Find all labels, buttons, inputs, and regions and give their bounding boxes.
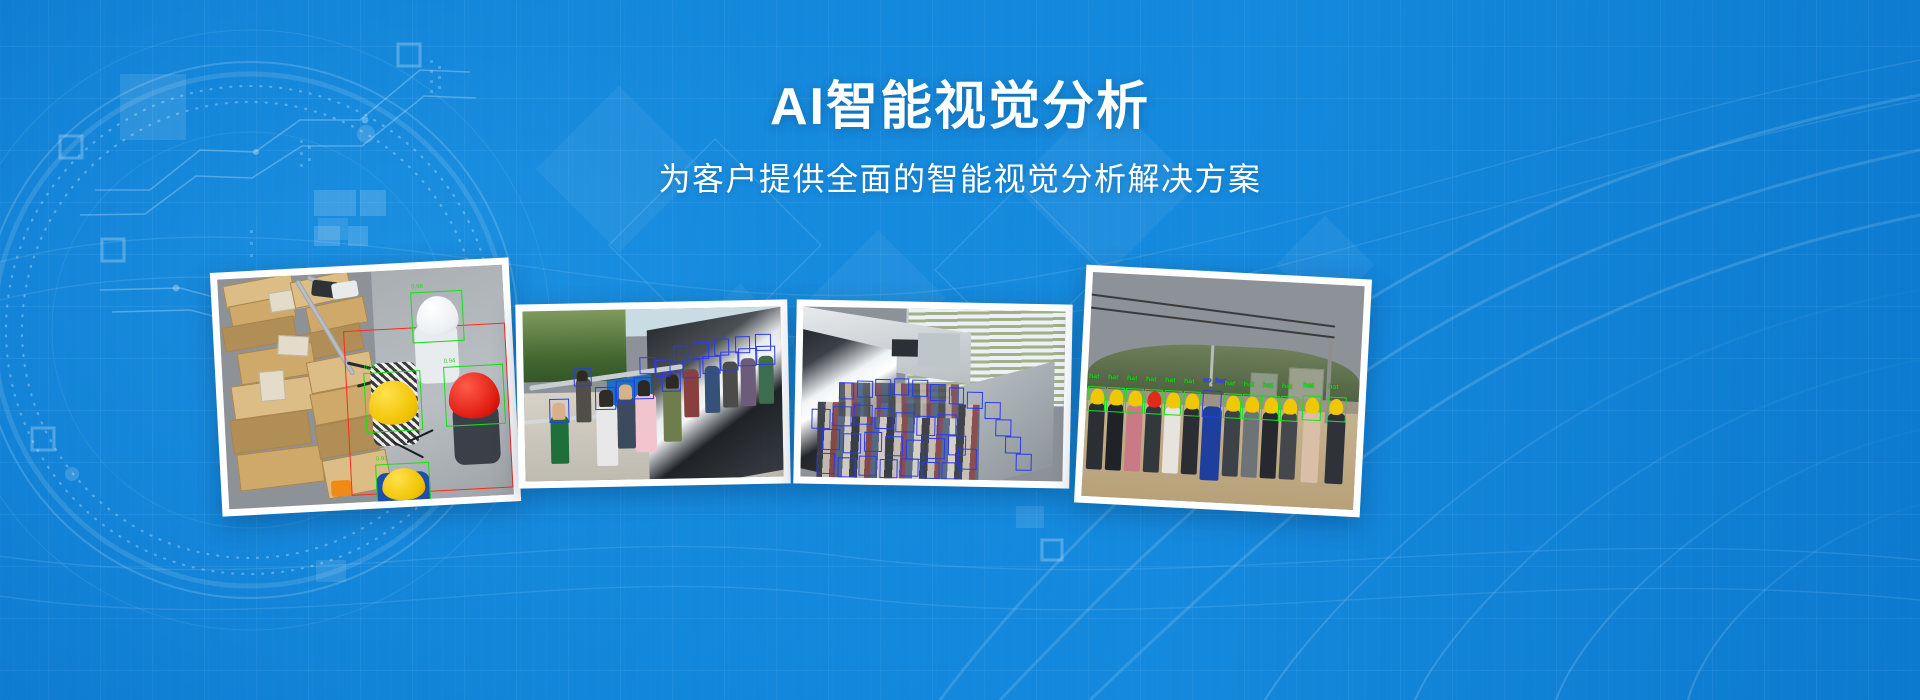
detection-label-hat: hat [1108, 374, 1119, 382]
detection-label-hat: hat [1146, 376, 1157, 384]
detection-box-person [839, 382, 855, 399]
detection-box-face [673, 346, 689, 363]
pedestrian [663, 387, 682, 442]
detection-box-person [949, 387, 965, 404]
detection-box-person [927, 438, 946, 459]
detection-box-person [985, 402, 1001, 419]
detection-box-person [900, 458, 919, 477]
detection-box-face [734, 336, 750, 353]
pedestrian [596, 405, 618, 467]
detection-label: 0.96 [364, 365, 376, 372]
detection-box-person [864, 432, 883, 453]
detection-box-person [854, 404, 873, 425]
detection-box-hat [1163, 390, 1182, 416]
far-structure [918, 333, 961, 368]
detection-box-helmet-yellow-1: 0.96 [363, 370, 423, 433]
detection-box-hat [1223, 393, 1242, 419]
detection-box-face [655, 360, 671, 377]
detection-box-no-hat [1201, 390, 1221, 418]
detection-box-person [967, 391, 983, 408]
detection-box-person [916, 416, 935, 437]
scene-footbridge [522, 307, 783, 482]
detection-label-hat: hat [1263, 382, 1274, 390]
detection-label: 0.94 [444, 358, 456, 365]
detection-box-helmet-white: 0.98 [410, 290, 464, 343]
detection-box-face [755, 334, 771, 351]
scene-escalator [800, 307, 1065, 482]
detection-box-person [879, 459, 898, 478]
ai-vision-banner: AI智能视觉分析 为客户提供全面的智能视觉分析解决方案 [0, 0, 1920, 700]
detection-label-no-hat: no_hat [1203, 376, 1226, 384]
detection-label-hat: hat [1089, 373, 1100, 381]
detection-box-person [942, 462, 961, 479]
page-title: AI智能视觉分析 [0, 78, 1920, 138]
detection-box-face [615, 381, 635, 403]
detection-box-hat [1087, 386, 1106, 412]
detection-label-hat: hat [1184, 378, 1195, 386]
detection-label-hat: hat [1244, 381, 1255, 389]
detection-box-person [1015, 453, 1031, 470]
detection-box-person [816, 453, 835, 474]
detection-box-face [693, 342, 709, 359]
detection-box-face [595, 386, 616, 410]
headline-block: AI智能视觉分析 为客户提供全面的智能视觉分析解决方案 [0, 78, 1920, 198]
pedestrian [617, 398, 636, 449]
gallery-photo-escalator-crowd-detection[interactable] [793, 299, 1072, 488]
detection-label-hat: hat [1127, 375, 1138, 383]
detection-label: 0.91 [376, 456, 388, 463]
showcase-gallery: 0.98 0.96 0.94 0.91 [0, 258, 1920, 518]
detection-box-person [837, 457, 856, 478]
display-screen [892, 339, 919, 356]
detection-box-person [912, 380, 928, 397]
detection-box-person [937, 414, 956, 435]
detection-label-hat: hat [1303, 382, 1314, 390]
detection-label-hat: hat [1282, 383, 1293, 391]
detection-box-person [822, 429, 841, 450]
detection-box-person [1005, 436, 1021, 453]
detection-box-face [714, 338, 730, 355]
detection-box-hat [1242, 394, 1261, 420]
detection-box-person [930, 384, 946, 401]
detection-box-face [639, 357, 655, 374]
gallery-photo-worker-hardhat-detection[interactable]: hat hat hat hat hat [1074, 265, 1372, 518]
detection-box-hat [1125, 388, 1144, 414]
detection-box-helmet-yellow-2: 0.91 [375, 462, 431, 506]
detection-box-hat [1280, 396, 1299, 422]
detection-box-hat [1182, 391, 1201, 417]
pedestrian [550, 416, 569, 464]
detection-box-hat [1302, 395, 1322, 421]
detection-box-person [843, 433, 862, 454]
detection-box-person [857, 381, 873, 398]
detection-label-hat: hat [1328, 383, 1339, 391]
gallery-photo-warehouse-helmet-detection[interactable]: 0.98 0.96 0.94 0.91 [210, 257, 521, 516]
detection-box-person [906, 439, 925, 460]
detection-label-hat: hat [1225, 380, 1236, 388]
pedestrian-head [576, 370, 588, 382]
scene-warehouse: 0.98 0.96 0.94 0.91 [217, 265, 514, 510]
detection-box-person [921, 462, 940, 479]
detection-box-person [995, 419, 1011, 436]
page-subtitle: 为客户提供全面的智能视觉分析解决方案 [0, 160, 1920, 198]
worker [1324, 412, 1345, 484]
detection-box-hat [1261, 395, 1280, 421]
detection-box-face [549, 399, 570, 423]
pedestrian [635, 394, 657, 452]
detection-label-hat: hat [1165, 377, 1176, 385]
detection-box-hat [1144, 389, 1163, 415]
detection-box-person [812, 409, 831, 430]
detection-box-hat [1326, 396, 1346, 422]
detection-box-hat [1106, 387, 1125, 413]
detection-box-person [958, 449, 977, 470]
scene-worker-group: hat hat hat hat hat [1081, 272, 1364, 510]
detection-box-person [858, 455, 877, 476]
gallery-photo-footbridge-crowd-detection[interactable] [515, 299, 790, 488]
detection-box-person [875, 379, 891, 396]
detection-box-person [875, 408, 894, 429]
detection-box-person [833, 406, 852, 427]
detection-box-person [896, 412, 915, 433]
detection-label: 0.98 [411, 284, 423, 291]
detection-box-face [633, 377, 654, 399]
detection-box-helmet-red: 0.94 [443, 364, 506, 427]
detection-box-person [885, 436, 904, 457]
detection-box-person [894, 378, 910, 395]
